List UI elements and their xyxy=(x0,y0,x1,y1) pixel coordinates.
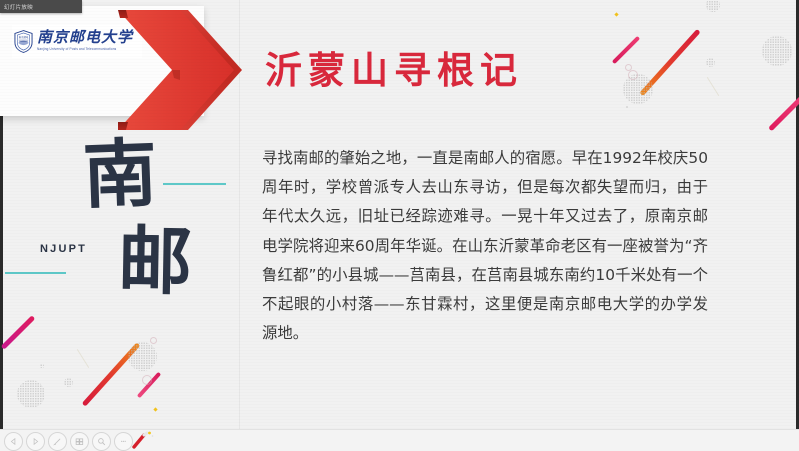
pen-tool-button[interactable] xyxy=(48,432,67,451)
ellipsis-icon: ••• xyxy=(121,439,126,444)
pen-icon xyxy=(53,437,62,446)
brand-abbreviation: NJUPT xyxy=(40,243,87,255)
red-pen-cursor xyxy=(130,430,156,450)
slide-body-text: 寻找南邮的肇始之地，一直是南邮人的宿愿。早在1992年校庆50周年时，学校曾派专… xyxy=(262,144,708,348)
presentation-viewer: 南京邮电 南京邮电大学 Nanjing University of Posts … xyxy=(0,0,799,451)
slideshow-status-tooltip: 幻灯片放映 xyxy=(0,0,82,13)
calligraphy-you: 邮 xyxy=(117,224,192,299)
triangle-left-icon xyxy=(10,438,17,445)
calligraphy-nan: 南 xyxy=(82,137,159,214)
njupt-crest-icon: 南京邮电 xyxy=(14,30,33,53)
tooltip-label: 幻灯片放映 xyxy=(4,3,33,11)
slideshow-toolbar: ••• xyxy=(0,429,799,451)
slide-title: 沂蒙山寻根记 xyxy=(265,40,523,94)
slide-canvas[interactable]: 南京邮电 南京邮电大学 Nanjing University of Posts … xyxy=(0,0,799,429)
zoom-button[interactable] xyxy=(92,432,111,451)
accent-line-bottom xyxy=(5,272,66,274)
red-chevron-ribbon xyxy=(118,8,248,136)
slide-gallery-button[interactable] xyxy=(70,432,89,451)
svg-text:南京邮电: 南京邮电 xyxy=(19,35,29,39)
accent-line-top xyxy=(163,183,226,185)
grid-icon xyxy=(75,437,84,446)
triangle-right-icon xyxy=(32,438,39,445)
next-slide-button[interactable] xyxy=(26,432,45,451)
magnifier-icon xyxy=(97,437,106,446)
previous-slide-button[interactable] xyxy=(4,432,23,451)
